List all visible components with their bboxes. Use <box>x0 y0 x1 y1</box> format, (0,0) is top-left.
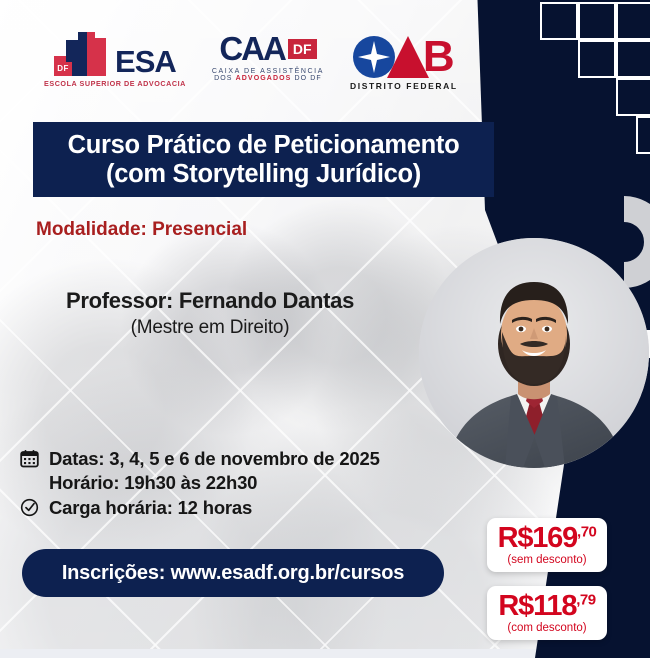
info-text-schedule: Horário: 19h30 às 22h30 <box>49 471 257 494</box>
course-info-list: Datas: 3, 4, 5 e 6 de novembro de 2025 H… <box>18 447 458 520</box>
logo-esa: DF ESA ESCOLA SUPERIOR DE ADVOCACIA <box>44 30 186 88</box>
info-row-dates: Datas: 3, 4, 5 e 6 de novembro de 2025 <box>18 447 458 470</box>
info-text-dates: Datas: 3, 4, 5 e 6 de novembro de 2025 <box>49 447 380 470</box>
caa-wordmark: CAA <box>219 34 285 64</box>
grid-decoration <box>490 0 650 160</box>
clock-check-icon <box>18 496 40 519</box>
info-row-workload: Carga horária: 12 horas <box>18 496 458 519</box>
course-title-line1: Curso Prático de Peticionamento <box>68 131 460 160</box>
caa-tagline-line1: CAIXA DE ASSISTÊNCIA <box>212 68 324 75</box>
modality-label: Modalidade: Presencial <box>36 219 247 241</box>
price-card-full: R$169,70 (sem desconto) <box>487 518 607 572</box>
logo-caa-df: CAA DF CAIXA DE ASSISTÊNCIA DOS ADVOGADO… <box>212 34 324 82</box>
price-note-full: (sem desconto) <box>507 554 586 566</box>
esa-tagline: ESCOLA SUPERIOR DE ADVOCACIA <box>44 79 186 88</box>
logo-oab-df: B DISTRITO FEDERAL <box>350 36 458 91</box>
course-poster: DF ESA ESCOLA SUPERIOR DE ADVOCACIA CAA … <box>0 0 650 658</box>
price-value-discount: R$118,79 <box>498 592 595 621</box>
registration-label: Inscrições: www.esadf.org.br/cursos <box>62 562 404 585</box>
oab-mark-icon: B <box>353 36 455 78</box>
info-row-schedule: Horário: 19h30 às 22h30 <box>18 471 458 494</box>
course-title-line2: (com Storytelling Jurídico) <box>106 160 421 189</box>
caa-df-badge: DF <box>288 39 317 59</box>
price-note-discount: (com desconto) <box>507 622 586 634</box>
price-value-full: R$169,70 <box>498 524 597 553</box>
registration-button[interactable]: Inscrições: www.esadf.org.br/cursos <box>22 549 444 597</box>
calendar-icon <box>18 447 40 470</box>
professor-block: Professor: Fernando Dantas (Mestre em Di… <box>0 288 420 339</box>
oab-tagline: DISTRITO FEDERAL <box>350 81 458 91</box>
professor-photo <box>419 238 649 468</box>
course-title-bar: Curso Prático de Peticionamento (com Sto… <box>33 122 494 197</box>
esa-wordmark: ESA <box>115 47 176 76</box>
esa-df-badge: DF <box>54 62 72 76</box>
info-text-workload: Carga horária: 12 horas <box>49 496 252 519</box>
price-card-discount: R$118,79 (com desconto) <box>487 586 607 640</box>
professor-name: Professor: Fernando Dantas <box>0 288 420 314</box>
professor-credential: (Mestre em Direito) <box>0 317 420 339</box>
caa-tagline-line2: DOS ADVOGADOS DO DF <box>214 75 322 82</box>
esa-bars-icon: DF <box>54 30 110 76</box>
logo-row: DF ESA ESCOLA SUPERIOR DE ADVOCACIA CAA … <box>0 30 470 110</box>
